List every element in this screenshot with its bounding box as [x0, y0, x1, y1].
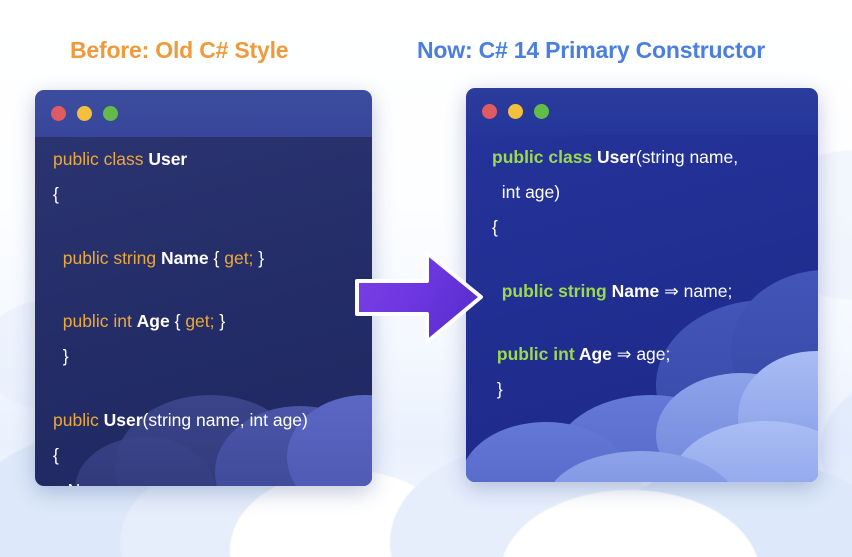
code-window-before: public class User { public string Name {… [35, 90, 372, 486]
code-body: public class User(string name, int age) … [466, 135, 818, 482]
code-line [53, 383, 358, 394]
code-token: Name [612, 281, 665, 301]
code-line: public string Name { get; } [53, 250, 358, 268]
code-token: { [214, 248, 225, 268]
code-token: User [104, 410, 143, 430]
code-token: } [492, 379, 503, 399]
code-token: { [53, 184, 59, 204]
code-token: public [53, 410, 104, 430]
code-line [492, 254, 804, 265]
maximize-dot-icon[interactable] [103, 106, 118, 121]
code-token: get; [185, 311, 214, 331]
minimize-dot-icon[interactable] [77, 106, 92, 121]
code-token: public class [492, 147, 597, 167]
code-token: } [253, 248, 264, 268]
code-token: public class [53, 149, 148, 169]
code-token: Name = name; [53, 480, 183, 487]
code-line [492, 318, 804, 329]
code-line: public class User [53, 151, 358, 169]
code-token: public int [492, 344, 579, 364]
code-line: } [53, 348, 358, 366]
code-token: } [215, 311, 226, 331]
code-line: Name = name; [53, 482, 358, 487]
code-token: ⇒ name; [664, 281, 732, 301]
code-block-before: public class User { public string Name {… [35, 137, 372, 486]
maximize-dot-icon[interactable] [534, 104, 549, 119]
code-token: public string [492, 281, 612, 301]
code-line: public int Age ⇒ age; [492, 346, 804, 364]
window-titlebar [35, 90, 372, 137]
code-block-now: public class User(string name, int age) … [466, 135, 818, 416]
code-token: User [148, 149, 187, 169]
code-token: User [597, 147, 636, 167]
code-line: public string Name ⇒ name; [492, 283, 804, 301]
code-body: public class User { public string Name {… [35, 137, 372, 486]
code-token: { [492, 217, 498, 237]
code-line: public class User(string name, [492, 149, 804, 167]
close-dot-icon[interactable] [51, 106, 66, 121]
code-token: Age [137, 311, 175, 331]
code-token: (string name, [636, 147, 738, 167]
code-token: ⇒ age; [617, 344, 671, 364]
page-title-now: Now: C# 14 Primary Constructor [417, 37, 765, 64]
code-line: { [53, 186, 358, 204]
code-token: { [175, 311, 186, 331]
code-line: } [492, 381, 804, 399]
code-line [53, 285, 358, 296]
code-line: public int Age { get; } [53, 313, 358, 331]
code-line: public User(string name, int age) [53, 412, 358, 430]
code-token: Name [161, 248, 214, 268]
code-line: { [492, 219, 804, 237]
right-arrow-icon [355, 245, 485, 350]
code-token: { [53, 445, 59, 465]
code-token: public string [53, 248, 161, 268]
code-window-now: public class User(string name, int age) … [466, 88, 818, 482]
window-titlebar [466, 88, 818, 135]
code-line: { [53, 447, 358, 465]
code-token: public int [53, 311, 137, 331]
code-line: int age) [492, 184, 804, 202]
close-dot-icon[interactable] [482, 104, 497, 119]
code-token: get; [224, 248, 253, 268]
code-token: } [53, 346, 69, 366]
code-line [53, 221, 358, 232]
minimize-dot-icon[interactable] [508, 104, 523, 119]
code-token: int age) [492, 182, 560, 202]
code-token: Age [579, 344, 617, 364]
code-token: (string name, int age) [143, 410, 308, 430]
page-title-before: Before: Old C# Style [70, 37, 288, 64]
